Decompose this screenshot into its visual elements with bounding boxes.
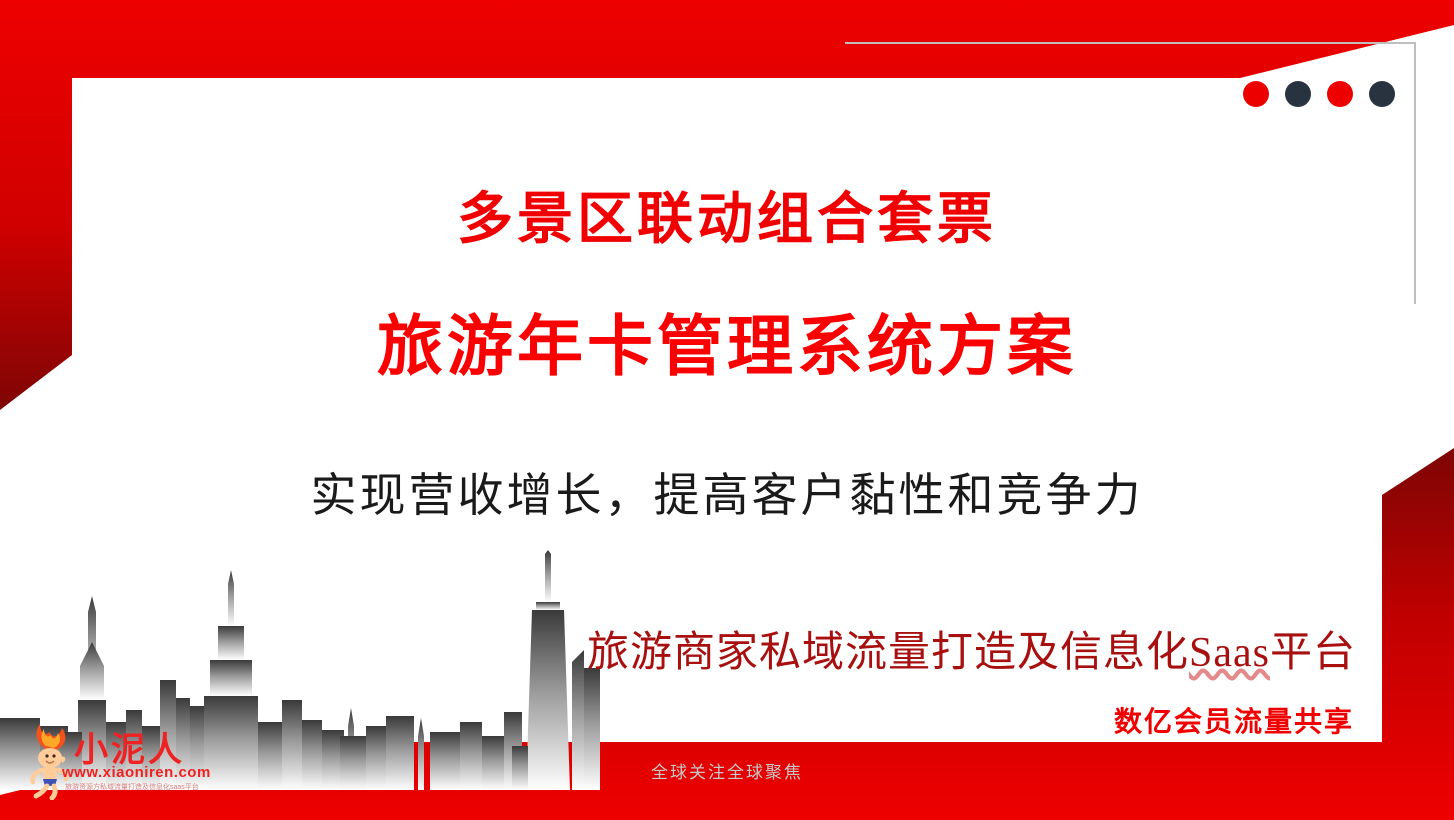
slide-title-line-2: 旅游年卡管理系统方案 bbox=[0, 312, 1454, 385]
presentation-slide: 多景区联动组合套票 旅游年卡管理系统方案 实现营收增长，提高客户黏性和竞争力 旅… bbox=[0, 0, 1454, 820]
frame-line-horizontal bbox=[845, 42, 1416, 44]
decorative-dots-group bbox=[1243, 81, 1395, 107]
slide-title-line-1: 多景区联动组合套票 bbox=[0, 190, 1454, 252]
platform-tagline-saas: Saas bbox=[1189, 630, 1270, 676]
members-tagline: 数亿会员流量共享 bbox=[1114, 700, 1354, 740]
dot-navy-2 bbox=[1369, 81, 1395, 107]
corner-decoration-shapes bbox=[0, 0, 1454, 820]
platform-tagline: 旅游商家私域流量打造及信息化Saas平台 bbox=[587, 618, 1356, 679]
dot-red-1 bbox=[1243, 81, 1269, 107]
platform-tagline-suffix: 平台 bbox=[1270, 630, 1356, 676]
company-logo: 小泥人 www.xiaoniren.com 旅游资源方私域流量打造及信息化saa… bbox=[22, 722, 222, 802]
logo-slogan: 旅游资源方私域流量打造及信息化saas平台 bbox=[65, 782, 199, 792]
frame-line-vertical bbox=[1414, 42, 1416, 304]
dot-navy-1 bbox=[1285, 81, 1311, 107]
dot-red-2 bbox=[1327, 81, 1353, 107]
logo-website-url: www.xiaoniren.com bbox=[62, 764, 211, 781]
slide-subtitle: 实现营收增长，提高客户黏性和竞争力 bbox=[0, 470, 1454, 523]
platform-tagline-prefix: 旅游商家私域流量打造及信息化 bbox=[587, 630, 1189, 676]
